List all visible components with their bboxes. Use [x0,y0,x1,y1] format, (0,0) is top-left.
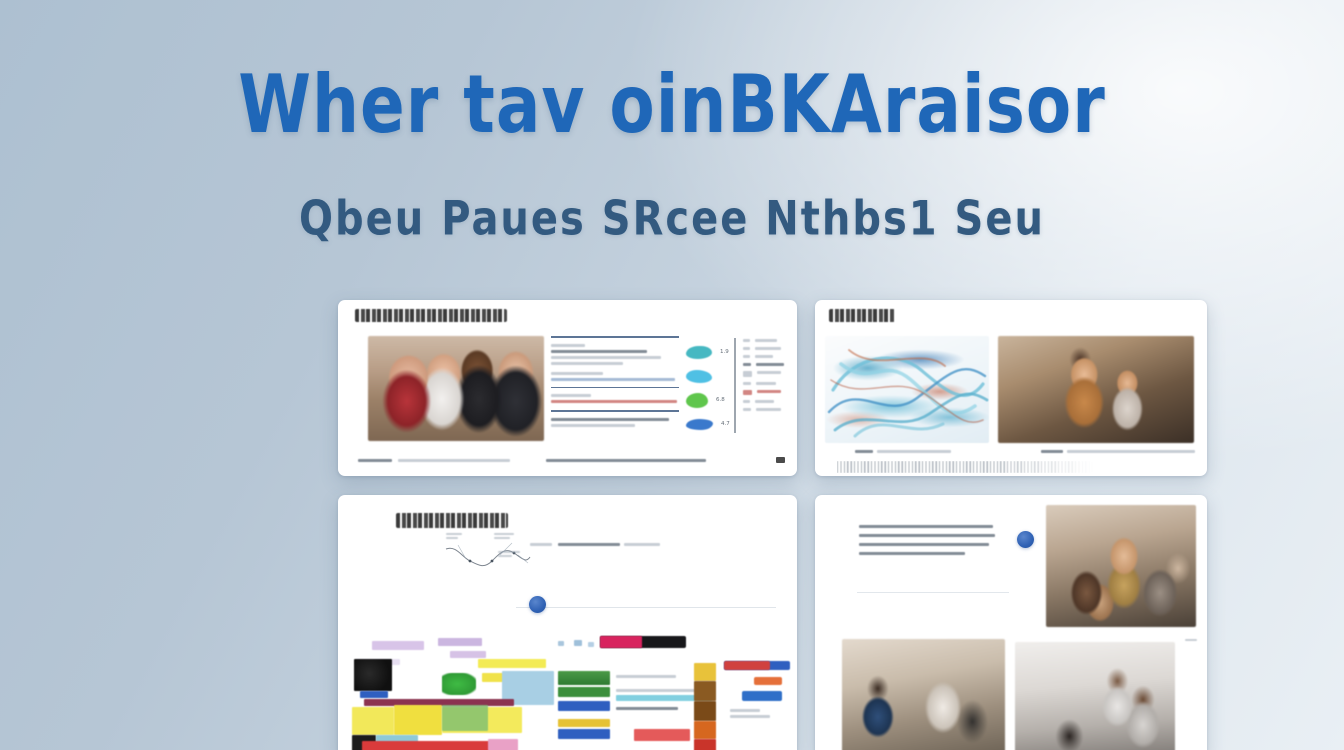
side-list [743,339,784,411]
blob-value-3: 6.8 [716,397,725,403]
image-caption-right-tail [1067,450,1195,453]
blue-blob-icon [686,419,713,430]
collage [338,635,797,750]
faint-text-block [837,461,1093,473]
footer-caption-right [546,459,706,462]
chart-label-c [498,551,520,557]
poster-canvas: Wher tav oinBKAraisor Qbeu Paues SRcee N… [0,0,1344,750]
chart-label-a [446,533,462,539]
image-caption-left-tail [877,450,951,453]
headline-container: Wher tav oinBKAraisor [0,72,1344,138]
lab-students-photo [1015,642,1175,750]
abstract-blue-swirl-artwork [825,336,989,443]
card-title-garble [396,513,508,528]
footer-caption-left [358,459,392,462]
cyan-blob-icon [686,370,712,383]
card-title-garble [829,309,895,322]
corner-caption [1185,639,1197,641]
office-meeting-photo [842,639,1005,750]
analytics-note-strong [558,543,620,546]
line-sketch-chart [442,533,534,575]
two-women-photo [998,336,1194,443]
chart-label-b [494,533,514,539]
card-row-bottom [338,495,1208,750]
card-row-top: 1.9 6.8 4.7 [338,300,1208,476]
card-grid: 1.9 6.8 4.7 [338,300,1208,750]
subheadline-container: Qbeu Paues SRcee Nthbs1 Seu [0,196,1344,242]
image-caption-right [1041,450,1063,453]
paragraph-divider [857,592,1009,593]
timeline-blue-dot[interactable] [529,596,546,613]
analytics-note [530,543,552,546]
timeline-divider [516,607,776,608]
green-blob-icon [686,393,708,408]
swirl-strokes-icon [825,336,989,443]
page-title: Wher tav oinBKAraisor [0,65,1344,146]
card-title-garble [355,309,507,322]
paragraph-block [859,525,999,555]
footer-badge-icon [776,457,785,463]
blob-icon-column: 1.9 6.8 4.7 [686,340,730,436]
accent-blue-dot[interactable] [1017,531,1034,548]
students-classroom-photo [1046,505,1196,627]
page-subtitle: Qbeu Paues SRcee Nthbs1 Seu [0,192,1344,246]
teal-blob-icon [686,346,712,359]
data-rows [551,336,684,427]
card-analytics[interactable] [338,495,797,750]
blob-value-1: 1.9 [720,349,729,355]
image-caption-left [855,450,873,453]
blob-value-4: 4.7 [721,421,730,427]
footer-caption-left-tail [398,459,510,462]
group-of-young-people-photo [368,336,544,441]
card-dashboard-youth[interactable]: 1.9 6.8 4.7 [338,300,797,476]
analytics-note-tail [624,543,660,546]
card-gallery-abstract[interactable] [815,300,1207,476]
card-photo-grid[interactable] [815,495,1207,750]
vertical-rule [734,338,736,433]
